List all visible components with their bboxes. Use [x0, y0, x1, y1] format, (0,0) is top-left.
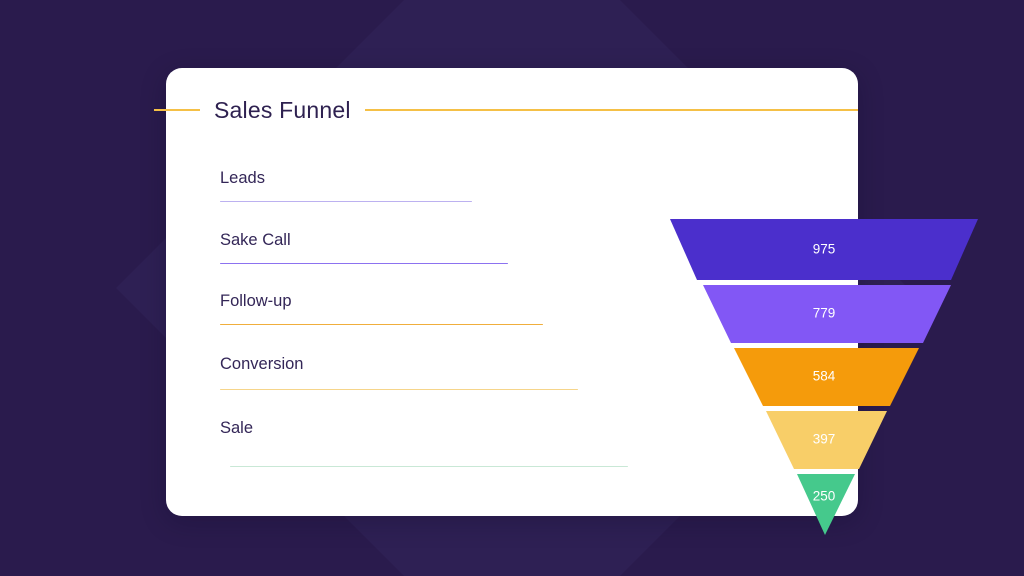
stage-underline-sale: [230, 466, 628, 468]
stage-row-follow-up[interactable]: Follow-up: [220, 293, 690, 325]
page-title: Sales Funnel: [200, 99, 365, 122]
funnel-stage-list: Leads Sake Call Follow-up Conversion Sal…: [220, 170, 690, 467]
stage-underline-conversion: [220, 389, 578, 391]
sales-funnel-card: Sales Funnel Leads Sake Call Follow-up C…: [166, 68, 858, 516]
stage-underline-follow-up: [220, 324, 543, 326]
title-rule-left: [154, 109, 200, 111]
stage-row-sale[interactable]: Sale: [220, 420, 690, 467]
funnel-value-follow-up: 584: [813, 369, 836, 384]
stage-label-conversion: Conversion: [220, 356, 690, 373]
funnel-value-leads: 975: [813, 242, 836, 257]
stage-label-sale: Sale: [220, 420, 690, 437]
stage-row-conversion[interactable]: Conversion: [220, 356, 690, 390]
title-rule-right: [365, 109, 858, 111]
funnel-value-sale: 250: [813, 489, 836, 504]
stage-row-leads[interactable]: Leads: [220, 170, 690, 202]
stage-label-follow-up: Follow-up: [220, 293, 690, 310]
stage-label-sake-call: Sake Call: [220, 232, 690, 249]
funnel-chart: 975 779 584 397 250: [660, 152, 990, 482]
funnel-value-conversion: 397: [813, 432, 836, 447]
funnel-value-sake-call: 779: [813, 306, 836, 321]
stage-label-leads: Leads: [220, 170, 690, 187]
stage-underline-leads: [220, 201, 472, 203]
stage-row-sake-call[interactable]: Sake Call: [220, 232, 690, 264]
card-title-row: Sales Funnel: [154, 95, 858, 125]
stage-underline-sake-call: [220, 263, 508, 265]
